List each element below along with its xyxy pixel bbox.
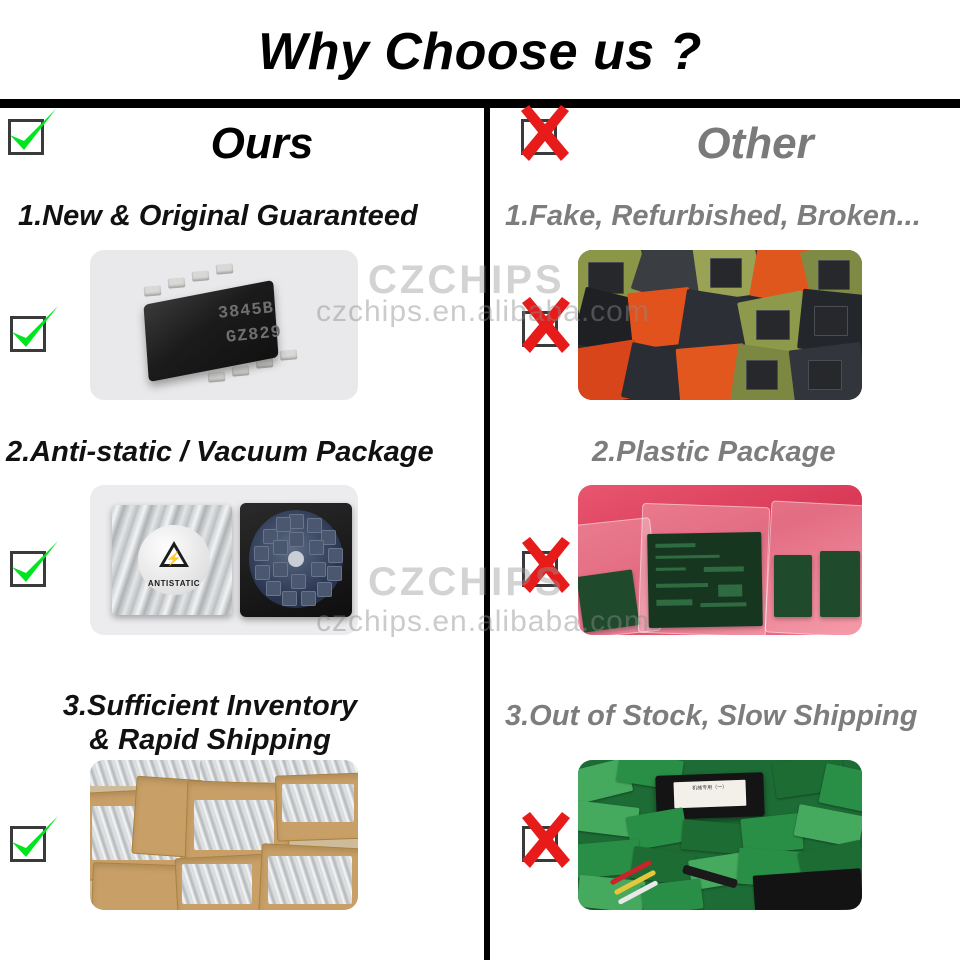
- check-icon: [2, 535, 64, 597]
- row-2-left-heading: 2.Anti-static / Vacuum Package: [6, 436, 434, 469]
- scrap-boards-photo: 机械专用（一）: [578, 760, 862, 910]
- component-reel: [240, 503, 352, 617]
- row-3-check-icon: [8, 820, 52, 864]
- ic-chip-photo-image: 3845B GZ829: [90, 250, 358, 400]
- scrap-chips-photo: [578, 250, 862, 400]
- module-label: 机械专用（一）: [673, 780, 746, 808]
- check-icon: [2, 810, 64, 872]
- row-2-right-heading: 2.Plastic Package: [592, 436, 835, 469]
- cross-icon: [514, 535, 576, 597]
- lightning-bolt-icon: ⚡: [166, 552, 182, 565]
- ic-chip-photo: 3845B GZ829: [90, 250, 358, 400]
- antistatic-label: ANTISTATIC: [138, 579, 210, 588]
- row-3-left-heading-line-2: & Rapid Shipping: [0, 724, 420, 757]
- row-2-cross-icon: [520, 545, 564, 589]
- inventory-boxes-photo: [90, 760, 358, 910]
- cross-icon: [514, 810, 576, 872]
- column-header-ours: Ours: [0, 108, 484, 180]
- check-icon: [2, 300, 64, 362]
- why-choose-us-graphic: Why Choose us ? Ours Other 1.New & Origi…: [0, 0, 960, 960]
- cross-icon: [514, 295, 576, 357]
- plastic-package-photo: [578, 485, 862, 635]
- row-3-left-heading: 3.Sufficient Inventory: [0, 690, 420, 723]
- scrap-chips-photo-image: [578, 250, 862, 400]
- bag-disc: ⚡ ANTISTATIC: [138, 525, 210, 595]
- row-1-cross-icon: [520, 305, 564, 349]
- column-divider: [484, 108, 490, 960]
- row-3-right-heading: 3.Out of Stock, Slow Shipping: [505, 700, 917, 733]
- scrap-boards-photo-image: 机械专用（一）: [578, 760, 862, 910]
- column-header-other: Other: [490, 108, 960, 180]
- antistatic-bag: ⚡ ANTISTATIC: [112, 505, 232, 615]
- plastic-package-photo-image: [578, 485, 862, 635]
- row-1-right-heading: 1.Fake, Refurbished, Broken...: [505, 200, 921, 233]
- antistatic-package-photo-image: ⚡ ANTISTATIC: [90, 485, 358, 635]
- page-title: Why Choose us ?: [0, 22, 960, 82]
- row-1-left-heading: 1.New & Original Guaranteed: [18, 200, 418, 233]
- row-3-cross-icon: [520, 820, 564, 864]
- row-2-check-icon: [8, 545, 52, 589]
- antistatic-package-photo: ⚡ ANTISTATIC: [90, 485, 358, 635]
- row-1-check-icon: [8, 310, 52, 354]
- header-divider: [0, 99, 960, 108]
- inventory-boxes-photo-image: [90, 760, 358, 910]
